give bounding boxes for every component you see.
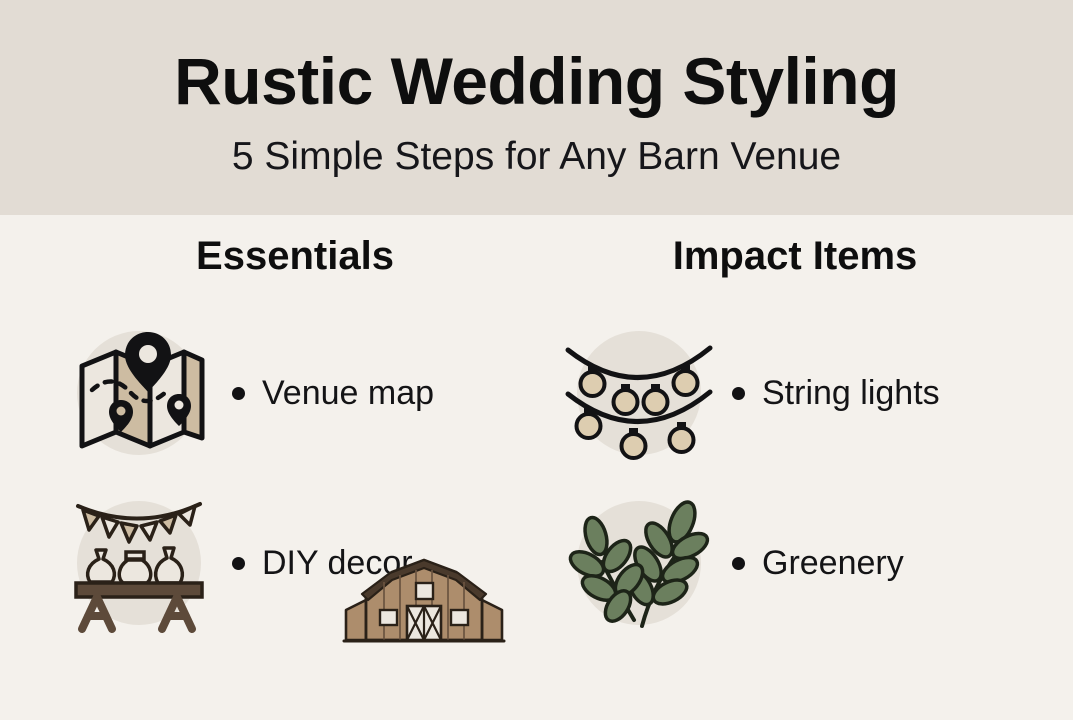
string-lights-icon	[560, 314, 718, 472]
list-item: Venue map	[60, 314, 530, 472]
item-label-venue-map: Venue map	[232, 374, 434, 413]
barn-illustration	[340, 548, 508, 648]
page-subtitle: 5 Simple Steps for Any Barn Venue	[0, 137, 1073, 176]
item-label-string-lights: String lights	[732, 374, 940, 413]
column-heading-essentials: Essentials	[60, 236, 530, 276]
bullet-icon	[732, 387, 745, 400]
item-text: Venue map	[262, 374, 434, 413]
list-item: Greenery	[560, 484, 1030, 642]
folded-map-icon	[60, 314, 218, 472]
column-heading-impact-items: Impact Items	[560, 236, 1030, 276]
eucalyptus-sprig-icon	[560, 484, 718, 642]
bullet-icon	[232, 387, 245, 400]
item-text: String lights	[762, 374, 940, 413]
bunting-table-vases-icon	[60, 484, 218, 642]
page-title: Rustic Wedding Styling	[0, 48, 1073, 114]
item-label-greenery: Greenery	[732, 544, 904, 583]
infographic-poster: Rustic Wedding Styling 5 Simple Steps fo…	[0, 0, 1073, 720]
list-item: String lights	[560, 314, 1030, 472]
bullet-icon	[732, 557, 745, 570]
item-text: Greenery	[762, 544, 904, 583]
bullet-icon	[232, 557, 245, 570]
